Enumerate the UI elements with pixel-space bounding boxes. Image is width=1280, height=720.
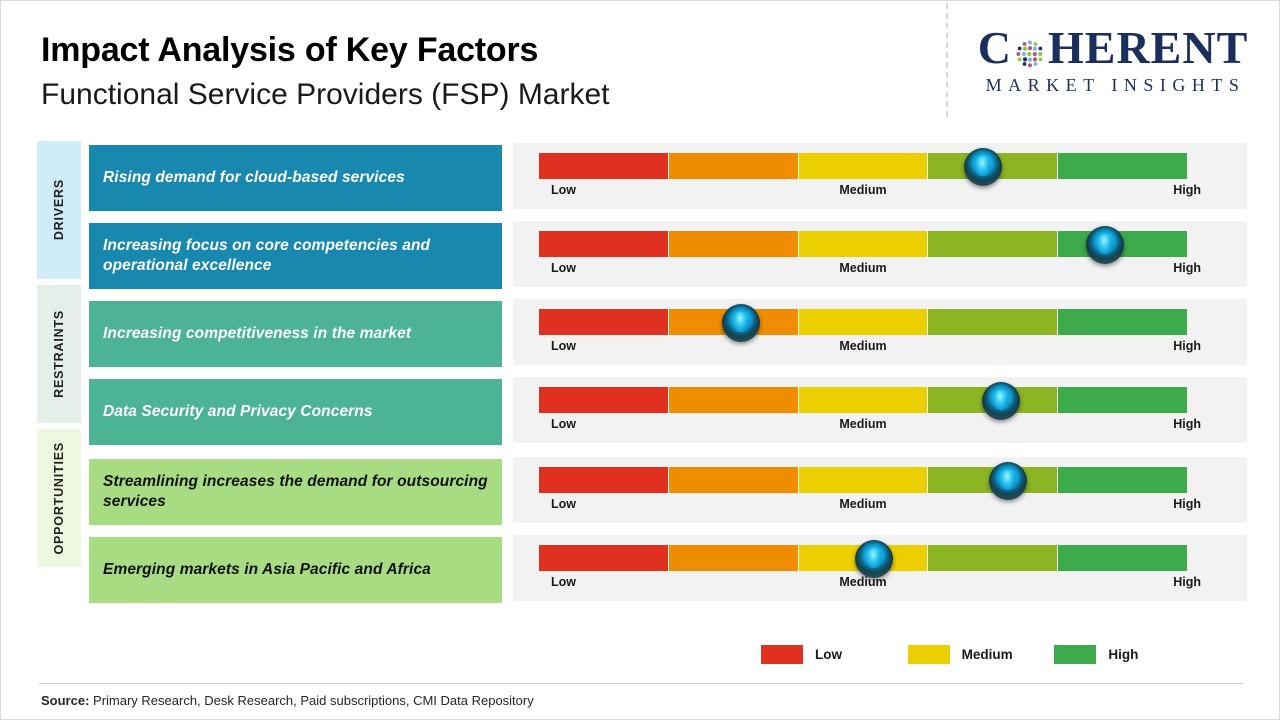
factor-label-6: Emerging markets in Asia Pacific and Afr… <box>89 560 445 580</box>
gauge-scale-labels-2: Low Medium High <box>539 261 1187 281</box>
legend-label-high: High <box>1108 647 1138 662</box>
header-dashed-divider <box>946 3 948 117</box>
gauge-segment-medium <box>799 387 929 413</box>
gauge-label-high-1: High <box>1173 183 1201 197</box>
category-band-restraints: RESTRAINTS <box>37 285 81 423</box>
category-band-drivers: DRIVERS <box>37 141 81 279</box>
legend: Low Medium High <box>761 645 1201 664</box>
gauge-segment-medium-high <box>928 545 1058 571</box>
gauge-bar-3 <box>539 309 1187 335</box>
gauge-row-5: Low Medium High <box>513 457 1247 523</box>
factor-card-6[interactable]: Emerging markets in Asia Pacific and Afr… <box>89 537 502 603</box>
gauge-label-medium-6: Medium <box>839 575 886 589</box>
factor-label-5: Streamlining increases the demand for ou… <box>89 472 502 512</box>
gauge-scale-labels-3: Low Medium High <box>539 339 1187 359</box>
gauge-label-low-2: Low <box>551 261 576 275</box>
globe-icon <box>1013 33 1047 67</box>
gauge-label-medium-2: Medium <box>839 261 886 275</box>
factor-card-1[interactable]: Rising demand for cloud-based services <box>89 145 502 211</box>
gauge-label-high-2: High <box>1173 261 1201 275</box>
legend-label-low: Low <box>815 647 842 662</box>
gauge-row-1: Low Medium High <box>513 143 1247 209</box>
legend-item-medium: Medium <box>908 645 1055 664</box>
factor-label-3: Increasing competitiveness in the market <box>89 324 425 344</box>
gauge-row-4: Low Medium High <box>513 377 1247 443</box>
gauge-marker-6[interactable] <box>855 540 893 578</box>
gauge-marker-5[interactable] <box>989 462 1027 500</box>
gauge-segment-high <box>1058 309 1187 335</box>
gauge-segment-low <box>539 231 669 257</box>
legend-swatch-low <box>761 645 803 664</box>
factor-label-2: Increasing focus on core competencies an… <box>89 236 502 276</box>
gauge-row-2: Low Medium High <box>513 221 1247 287</box>
category-band-opportunities: OPPORTUNITIES <box>37 429 81 567</box>
gauge-label-medium-3: Medium <box>839 339 886 353</box>
gauge-scale-labels-5: Low Medium High <box>539 497 1187 517</box>
gauge-row-3: Low Medium High <box>513 299 1247 365</box>
source-line: Source: Primary Research, Desk Research,… <box>41 693 534 708</box>
gauge-scale-labels-1: Low Medium High <box>539 183 1187 203</box>
logo-wordmark: C <box>963 25 1263 71</box>
gauge-segment-low <box>539 467 669 493</box>
gauge-bar-5 <box>539 467 1187 493</box>
gauge-label-high-6: High <box>1173 575 1201 589</box>
logo-letter-c: C <box>978 25 1012 71</box>
legend-swatch-high <box>1054 645 1096 664</box>
source-label: Source: <box>41 693 89 708</box>
legend-item-low: Low <box>761 645 908 664</box>
gauge-label-high-5: High <box>1173 497 1201 511</box>
gauge-label-low-6: Low <box>551 575 576 589</box>
gauge-scale-labels-6: Low Medium High <box>539 575 1187 595</box>
factor-card-2[interactable]: Increasing focus on core competencies an… <box>89 223 502 289</box>
legend-swatch-medium <box>908 645 950 664</box>
gauge-segment-high <box>1058 153 1187 179</box>
gauge-segment-low <box>539 153 669 179</box>
source-text: Primary Research, Desk Research, Paid su… <box>89 693 533 708</box>
gauge-label-medium-1: Medium <box>839 183 886 197</box>
gauge-segment-medium-high <box>928 309 1058 335</box>
gauge-label-low-3: Low <box>551 339 576 353</box>
gauge-segment-high <box>1058 387 1187 413</box>
title-block: Impact Analysis of Key Factors Functiona… <box>41 31 610 114</box>
gauge-row-6: Low Medium High <box>513 535 1247 601</box>
gauge-segment-low <box>539 309 669 335</box>
page-subtitle: Functional Service Providers (FSP) Marke… <box>41 76 610 114</box>
gauge-segment-low-medium <box>669 467 799 493</box>
factor-card-5[interactable]: Streamlining increases the demand for ou… <box>89 459 502 525</box>
gauge-marker-1[interactable] <box>964 148 1002 186</box>
slide-header: Impact Analysis of Key Factors Functiona… <box>1 1 1280 133</box>
gauge-segment-medium <box>799 309 929 335</box>
gauge-label-medium-4: Medium <box>839 417 886 431</box>
logo-tagline: MARKET INSIGHTS <box>963 75 1263 96</box>
legend-label-medium: Medium <box>962 647 1013 662</box>
factor-card-3[interactable]: Increasing competitiveness in the market <box>89 301 502 367</box>
gauge-bar-4 <box>539 387 1187 413</box>
category-label-opportunities: OPPORTUNITIES <box>52 442 66 555</box>
gauge-label-low-5: Low <box>551 497 576 511</box>
gauge-bar-1 <box>539 153 1187 179</box>
coherent-market-insights-logo: C <box>963 25 1263 96</box>
gauge-segment-medium <box>799 153 929 179</box>
gauge-label-medium-5: Medium <box>839 497 886 511</box>
factor-label-4: Data Security and Privacy Concerns <box>89 402 387 422</box>
gauge-segment-high <box>1058 467 1187 493</box>
gauge-segment-low-medium <box>669 387 799 413</box>
gauge-label-low-1: Low <box>551 183 576 197</box>
gauge-label-high-4: High <box>1173 417 1201 431</box>
gauge-segment-medium <box>799 231 929 257</box>
logo-letters-herent: HERENT <box>1048 25 1248 71</box>
factor-label-1: Rising demand for cloud-based services <box>89 168 419 188</box>
category-label-drivers: DRIVERS <box>52 179 66 240</box>
gauge-segment-low-medium <box>669 153 799 179</box>
factor-card-4[interactable]: Data Security and Privacy Concerns <box>89 379 502 445</box>
gauge-segment-high <box>1058 545 1187 571</box>
footer-divider <box>39 683 1243 684</box>
gauge-segment-medium <box>799 467 929 493</box>
gauge-segment-low <box>539 545 669 571</box>
gauge-segment-medium-high <box>928 231 1058 257</box>
gauge-segment-low <box>539 387 669 413</box>
gauge-label-low-4: Low <box>551 417 576 431</box>
gauge-marker-2[interactable] <box>1086 226 1124 264</box>
slide-canvas: Impact Analysis of Key Factors Functiona… <box>0 0 1280 720</box>
gauge-segment-low-medium <box>669 231 799 257</box>
gauge-scale-labels-4: Low Medium High <box>539 417 1187 437</box>
gauge-marker-3[interactable] <box>722 304 760 342</box>
gauge-marker-4[interactable] <box>982 382 1020 420</box>
gauge-segment-low-medium <box>669 545 799 571</box>
gauge-label-high-3: High <box>1173 339 1201 353</box>
page-title: Impact Analysis of Key Factors <box>41 31 610 70</box>
category-label-restraints: RESTRAINTS <box>52 310 66 398</box>
legend-item-high: High <box>1054 645 1201 664</box>
